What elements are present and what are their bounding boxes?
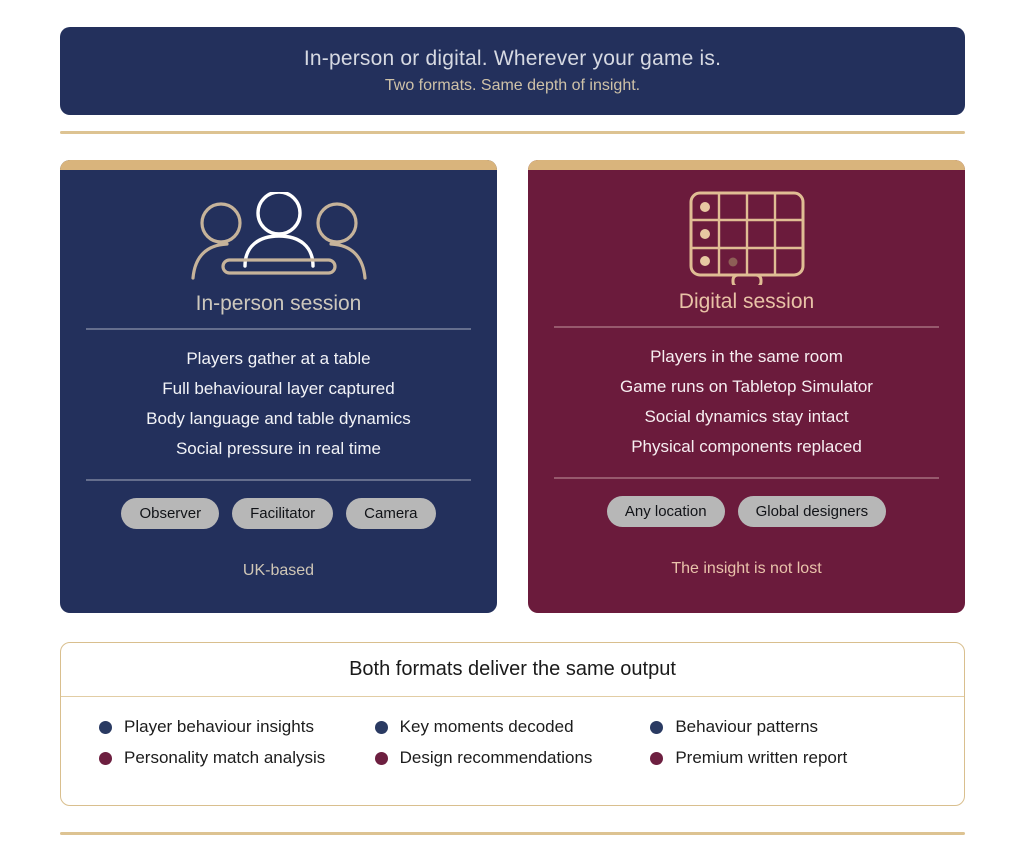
card-feature-line: Game runs on Tabletop Simulator: [620, 374, 873, 399]
output-title: Both formats deliver the same output: [61, 643, 964, 697]
tag-pill[interactable]: Global designers: [738, 496, 887, 527]
output-item-grid: Player behaviour insights Key moments de…: [61, 697, 964, 768]
card-feature-line: Players gather at a table: [186, 346, 370, 371]
output-item-label: Key moments decoded: [400, 717, 574, 737]
output-item-label: Player behaviour insights: [124, 717, 314, 737]
tag-pill[interactable]: Observer: [121, 498, 219, 529]
card-feature-line: Players in the same room: [650, 344, 843, 369]
banner-title: In-person or digital. Wherever your game…: [304, 47, 721, 71]
tag-pill[interactable]: Facilitator: [232, 498, 333, 529]
card-feature-line: Physical components replaced: [631, 434, 862, 459]
card-divider: [86, 328, 471, 330]
card-accent-bar: [60, 160, 497, 170]
card-divider-secondary: [86, 479, 471, 481]
tag-pill[interactable]: Any location: [607, 496, 725, 527]
card-tag-list: Any location Global designers: [593, 496, 900, 527]
output-item-label: Design recommendations: [400, 748, 593, 768]
output-item: Personality match analysis: [99, 748, 375, 768]
banner-subtitle: Two formats. Same depth of insight.: [385, 77, 640, 95]
comparison-infographic: In-person or digital. Wherever your game…: [0, 0, 1024, 851]
card-title: Digital session: [679, 290, 814, 314]
bullet-dot-icon: [99, 721, 112, 734]
divider-top: [60, 131, 965, 134]
bullet-dot-icon: [375, 721, 388, 734]
bullet-dot-icon: [99, 752, 112, 765]
output-item: Player behaviour insights: [99, 717, 375, 737]
people-at-table-icon: [183, 190, 375, 286]
bullet-dot-icon: [650, 752, 663, 765]
card-divider: [554, 326, 939, 328]
bullet-dot-icon: [375, 752, 388, 765]
card-footnote: UK-based: [243, 562, 314, 580]
card-title: In-person session: [196, 292, 362, 316]
output-item-label: Premium written report: [675, 748, 847, 768]
card-divider-secondary: [554, 477, 939, 479]
card-in-person-session[interactable]: In-person session Players gather at a ta…: [60, 160, 497, 613]
card-footnote: The insight is not lost: [671, 560, 821, 578]
output-item: Behaviour patterns: [650, 717, 926, 737]
card-feature-list: Players gather at a table Full behaviour…: [146, 346, 411, 461]
output-item-label: Behaviour patterns: [675, 717, 818, 737]
output-item: Premium written report: [650, 748, 926, 768]
divider-bottom: [60, 832, 965, 835]
card-feature-line: Social dynamics stay intact: [644, 404, 848, 429]
card-feature-line: Body language and table dynamics: [146, 406, 411, 431]
card-shared-output: Both formats deliver the same output Pla…: [60, 642, 965, 806]
card-feature-line: Social pressure in real time: [176, 436, 381, 461]
header-banner: In-person or digital. Wherever your game…: [60, 27, 965, 115]
output-item: Key moments decoded: [375, 717, 651, 737]
card-tag-list: Observer Facilitator Camera: [107, 498, 449, 529]
card-digital-session[interactable]: Digital session Players in the same room…: [528, 160, 965, 613]
output-item: Design recommendations: [375, 748, 651, 768]
digital-board-screen-icon: [681, 188, 813, 284]
bullet-dot-icon: [650, 721, 663, 734]
tag-pill[interactable]: Camera: [346, 498, 435, 529]
card-accent-bar: [528, 160, 965, 170]
card-feature-line: Full behavioural layer captured: [162, 376, 394, 401]
output-item-label: Personality match analysis: [124, 748, 325, 768]
card-feature-list: Players in the same room Game runs on Ta…: [620, 344, 873, 459]
